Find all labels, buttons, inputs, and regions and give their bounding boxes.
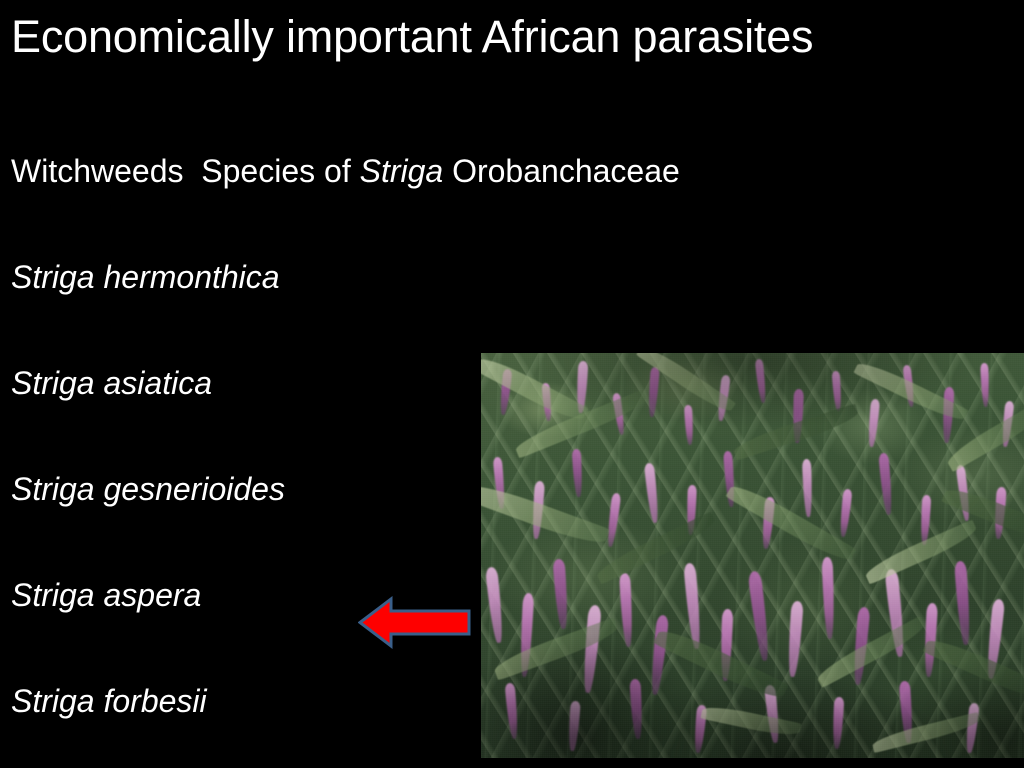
species-item-gesnerioides: Striga gesnerioides [11, 470, 285, 508]
subtitle-family: Orobanchaceae [443, 153, 680, 189]
species-item-hermonthica: Striga hermonthica [11, 258, 280, 296]
species-item-forbesii: Striga forbesii [11, 682, 207, 720]
arrow-left-icon [358, 596, 471, 649]
striga-field-photo [481, 353, 1024, 758]
species-item-aspera: Striga aspera [11, 576, 201, 614]
subtitle-line: Witchweeds Species of Striga Orobanchace… [11, 152, 680, 190]
subtitle-genus: Striga [360, 153, 444, 189]
species-item-asiatica: Striga asiatica [11, 364, 212, 402]
page-title: Economically important African parasites [11, 11, 1001, 63]
slide-canvas: Economically important African parasites… [0, 0, 1024, 768]
photo-film-grain [481, 353, 1024, 758]
subtitle-lead: Witchweeds Species of [11, 153, 360, 189]
